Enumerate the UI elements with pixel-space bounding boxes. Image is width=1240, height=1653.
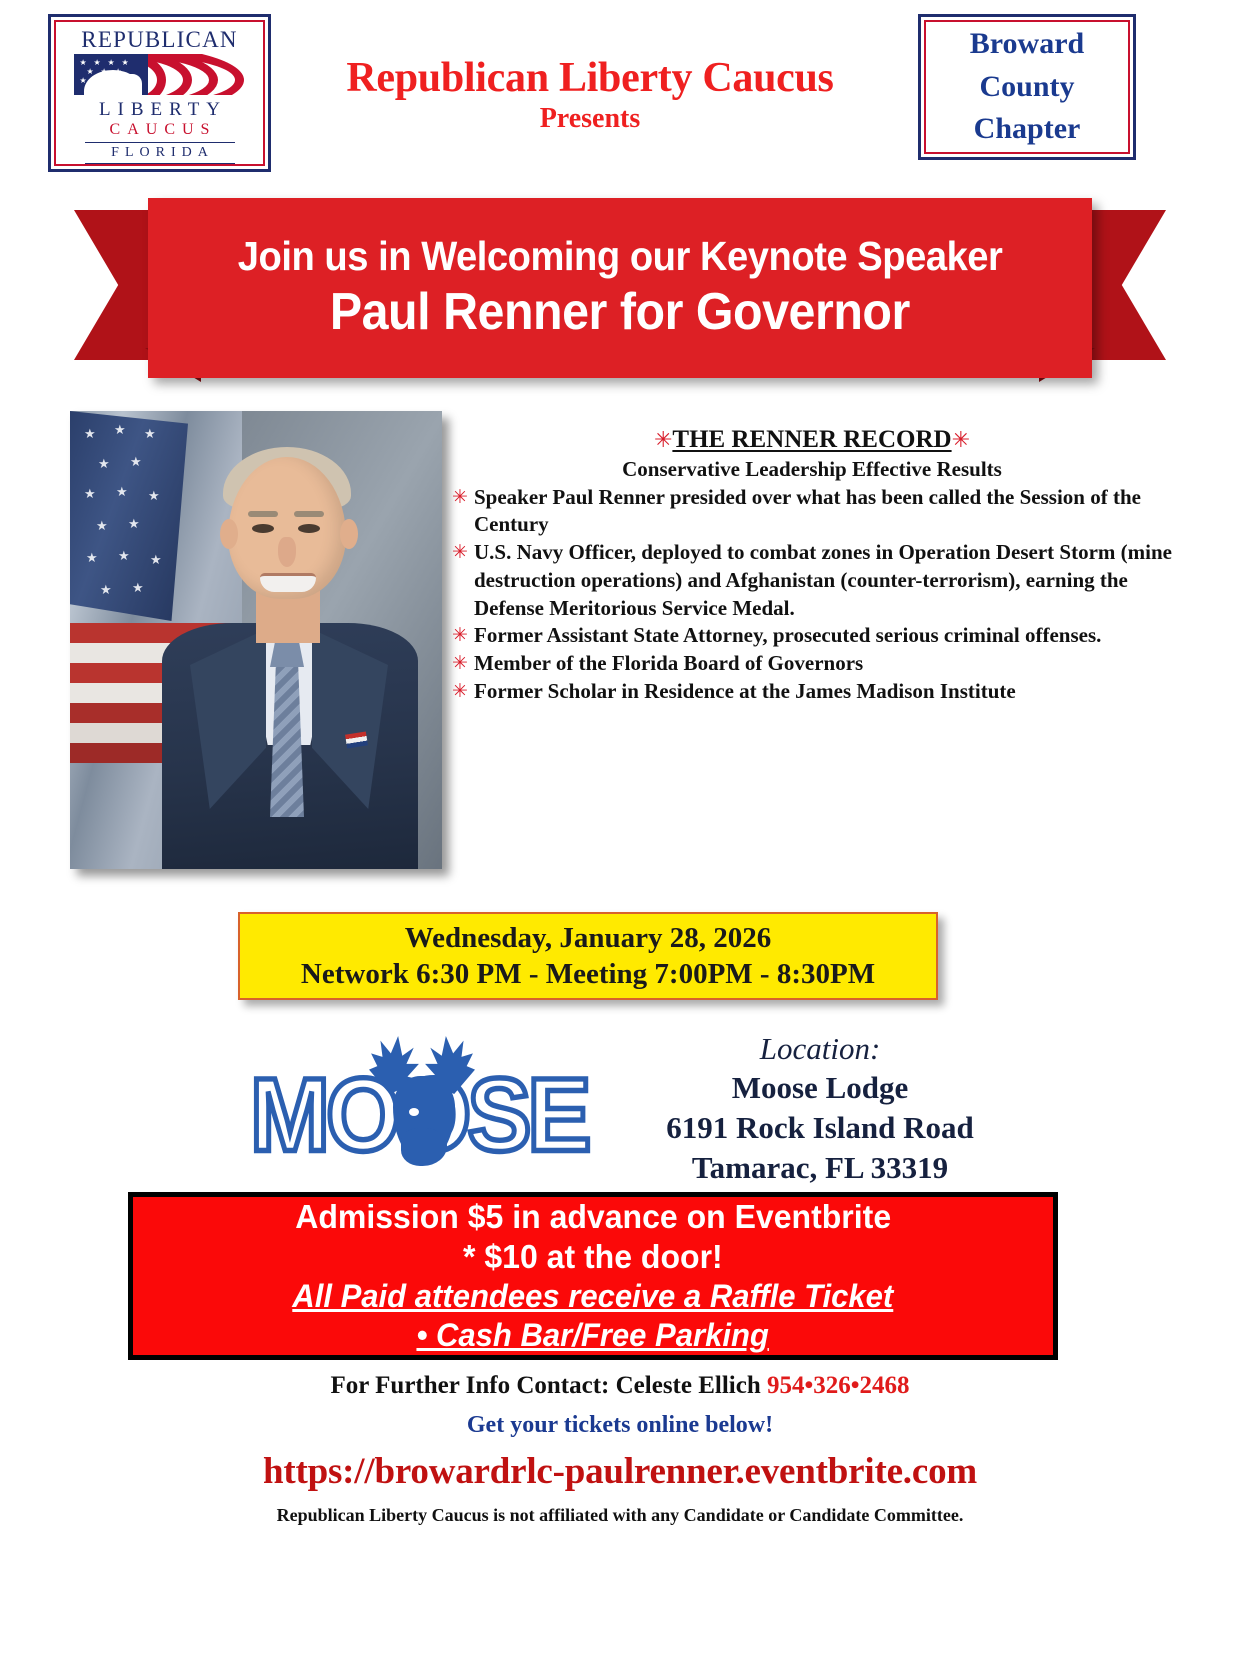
ribbon-line-2: Paul Renner for Governor [330,283,910,341]
contact-label: For Further Info Contact: Celeste Ellich [330,1372,767,1399]
affiliation-disclaimer: Republican Liberty Caucus is not affilia… [0,1505,1240,1526]
star-icon: ✳ [654,427,672,452]
admission-door-price: * $10 at the door! [463,1237,723,1277]
logo-florida-text: FLORIDA [105,145,214,161]
star-icon: ✳ [452,623,468,648]
admission-box: Admission $5 in advance on Eventbrite * … [128,1192,1058,1360]
venue-name: Moose Lodge [620,1068,1020,1108]
list-item-text: Former Scholar in Residence at the James… [474,679,1016,703]
page-subtitle: Presents [280,102,900,136]
admission-advance-price: Admission $5 in advance on Eventbrite [295,1197,891,1237]
event-time: Network 6:30 PM - Meeting 7:00PM - 8:30P… [301,956,875,992]
list-item: ✳Former Scholar in Residence at the Jame… [452,678,1172,706]
page-title: Republican Liberty Caucus [280,56,900,100]
list-item-text: U.S. Navy Officer, deployed to combat zo… [474,540,1172,619]
org-title-block: Republican Liberty Caucus Presents [280,56,900,136]
logo-divider-2 [85,163,235,164]
chapter-line-1: Broward [970,23,1084,66]
star-icon: ✳ [452,679,468,704]
admission-amenities: • Cash Bar/Free Parking [417,1316,769,1355]
admission-raffle-note: All Paid attendees receive a Raffle Tick… [293,1277,894,1316]
poster-header: REPUBLICAN ★ ★ ★ ★ ★ ★ ★ ★ [0,0,1240,178]
venue-details: Location: Moose Lodge 6191 Rock Island R… [620,1030,1020,1189]
list-item: ✳Speaker Paul Renner presided over what … [452,484,1172,539]
list-item-text: Former Assistant State Attorney, prosecu… [474,623,1101,647]
list-item: ✳Member of the Florida Board of Governor… [452,650,1172,678]
renner-record-section: ✳THE RENNER RECORD✳ Conservative Leaders… [452,425,1172,706]
chapter-line-3: Chapter [974,108,1081,151]
keynote-ribbon-banner: Join us in Welcoming our Keynote Speaker… [60,188,1180,393]
contact-phone[interactable]: 954•326•2468 [767,1372,910,1399]
ribbon-body: Join us in Welcoming our Keynote Speaker… [148,198,1092,378]
ribbon-line-1: Join us in Welcoming our Keynote Speaker [238,234,1003,279]
star-icon: ✳ [452,651,468,676]
venue-street: 6191 Rock Island Road [620,1108,1020,1148]
chapter-badge: Broward County Chapter [918,14,1136,160]
star-icon: ✳ [452,485,468,510]
record-title-text: THE RENNER RECORD [672,426,951,453]
list-item-text: Member of the Florida Board of Governors [474,651,863,675]
record-title: ✳THE RENNER RECORD✳ [452,425,1172,455]
tickets-prompt: Get your tickets online below! [0,1412,1240,1439]
star-icon: ✳ [452,540,468,565]
chapter-line-2: County [979,66,1074,109]
elephant-flag-icon: ★ ★ ★ ★ ★ ★ ★ ★ [70,54,250,95]
logo-republican-text: REPUBLICAN [81,28,237,51]
logo-liberty-text: LIBERTY [92,99,227,121]
speaker-photo: ★ ★ ★ ★ ★ ★ ★ ★ ★ ★ ★ ★ ★ ★ ★ [70,411,442,869]
moose-head-icon [365,1036,485,1162]
eventbrite-url-link[interactable]: https://browardrlc-paulrenner.eventbrite… [0,1450,1240,1493]
logo-divider [85,142,235,143]
logo-caucus-text: CAUCUS [103,121,217,139]
list-item-text: Speaker Paul Renner presided over what h… [474,485,1141,537]
record-bullet-list: ✳Speaker Paul Renner presided over what … [452,484,1172,706]
location-label: Location: [620,1030,1020,1068]
list-item: ✳U.S. Navy Officer, deployed to combat z… [452,539,1172,622]
rlc-logo: REPUBLICAN ★ ★ ★ ★ ★ ★ ★ ★ [48,14,271,172]
star-icon: ✳ [952,427,970,452]
venue-city-state-zip: Tamarac, FL 33319 [620,1148,1020,1188]
event-date: Wednesday, January 28, 2026 [405,920,772,956]
list-item: ✳Former Assistant State Attorney, prosec… [452,622,1172,650]
contact-line: For Further Info Contact: Celeste Ellich… [0,1372,1240,1400]
event-datetime-box: Wednesday, January 28, 2026 Network 6:30… [238,912,938,1000]
moose-lodge-logo: MOOSE [250,1032,580,1172]
record-subtitle: Conservative Leadership Effective Result… [452,456,1172,482]
